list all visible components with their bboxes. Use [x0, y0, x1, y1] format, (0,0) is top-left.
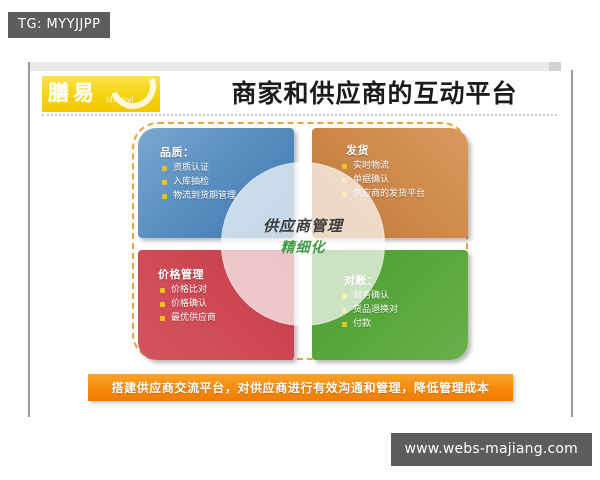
list-item: 物流到货期管理: [162, 189, 236, 203]
list-item: 价格比对: [160, 283, 216, 297]
site-watermark: www.webs-majiang.com: [391, 433, 593, 466]
quadrant-reconciliation-inner: 对账： 财务确认 货品退换对 付款: [312, 250, 468, 360]
list-item: 财务确认: [342, 289, 398, 303]
quadrant-price-inner: 价格管理 价格比对 价格确认 最优供应商: [138, 250, 294, 360]
slide-top-bar-cap: [549, 62, 561, 71]
slide-left-rule: [28, 62, 30, 417]
list-item: 单据确认: [342, 173, 425, 187]
list-item: 供应商的发货平台: [342, 187, 425, 201]
quadrant-reconciliation-heading: 对账：: [344, 272, 379, 288]
presentation-slide: 膳易 shanyi 商家和供应商的互动平台 品质： 资质认证 入库抽检 物流到货…: [28, 62, 573, 417]
logo-swoosh-icon: [102, 76, 160, 112]
center-label-group: 供应商管理 精细化: [198, 216, 408, 258]
quadrant-quality-list: 资质认证 入库抽检 物流到货期管理: [162, 161, 236, 203]
list-item: 资质认证: [162, 161, 236, 175]
shanyi-logo: 膳易 shanyi: [42, 76, 160, 112]
center-title: 供应商管理: [198, 216, 408, 236]
tg-tag: TG: MYYJJPP: [8, 12, 110, 38]
slide-right-scrollbar[interactable]: [571, 70, 573, 417]
quadrant-price[interactable]: 价格管理 价格比对 价格确认 最优供应商: [138, 250, 294, 360]
list-item: 付款: [342, 317, 398, 331]
slide-title-row: 膳易 shanyi 商家和供应商的互动平台: [42, 76, 557, 114]
list-item: 入库抽检: [162, 175, 236, 189]
quadrant-price-list: 价格比对 价格确认 最优供应商: [160, 283, 216, 325]
quadrant-reconciliation[interactable]: 对账： 财务确认 货品退换对 付款: [312, 250, 468, 360]
quadrant-shipping-list: 实时物流 单据确认 供应商的发货平台: [342, 159, 425, 201]
logo-chinese-text: 膳易: [48, 80, 98, 106]
quadrant-reconciliation-list: 财务确认 货品退换对 付款: [342, 289, 398, 331]
title-divider: [42, 114, 557, 116]
list-item: 实时物流: [342, 159, 425, 173]
center-subtitle: 精细化: [198, 238, 408, 258]
quadrant-shipping-heading: 发货: [346, 142, 369, 158]
list-item: 货品退换对: [342, 303, 398, 317]
summary-banner: 搭建供应商交流平台，对供应商进行有效沟通和管理，降低管理成本: [88, 374, 513, 401]
quadrant-quality-heading: 品质：: [160, 144, 195, 160]
list-item: 最优供应商: [160, 311, 216, 325]
quadrant-price-heading: 价格管理: [158, 266, 204, 282]
list-item: 价格确认: [160, 297, 216, 311]
quadrant-stage: 品质： 资质认证 入库抽检 物流到货期管理 发货 实时物流 单据确认 供应商的发…: [138, 128, 468, 360]
summary-banner-text: 搭建供应商交流平台，对供应商进行有效沟通和管理，降低管理成本: [111, 379, 489, 396]
page-title: 商家和供应商的互动平台: [192, 77, 557, 111]
slide-top-bar: [30, 62, 561, 71]
